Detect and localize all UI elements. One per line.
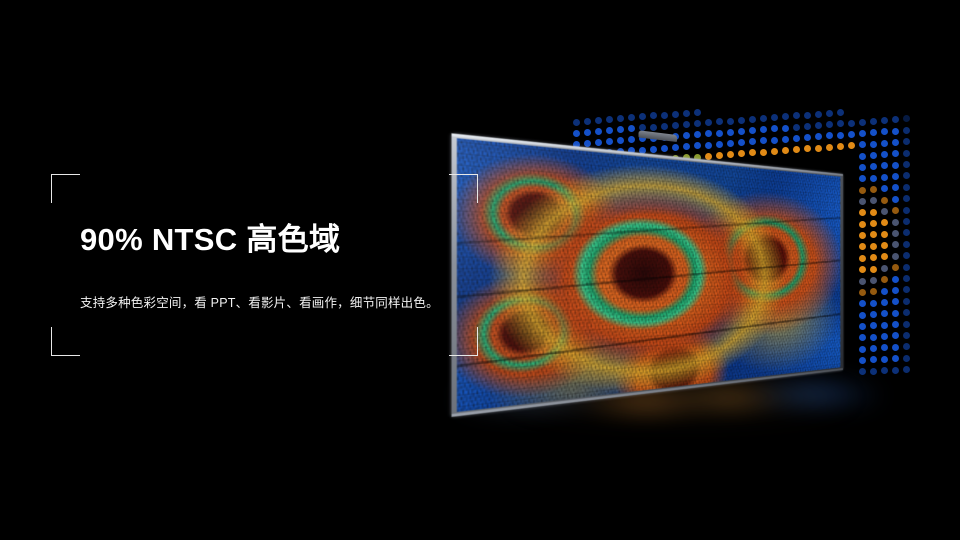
led-dot [903, 355, 910, 362]
led-dot [815, 122, 822, 129]
led-dot [881, 231, 888, 238]
led-dot [617, 126, 624, 133]
led-dot [804, 112, 811, 119]
led-dot [892, 264, 899, 271]
led-dot [881, 162, 888, 169]
led-dot [892, 287, 899, 294]
led-dot [859, 153, 866, 160]
slide-canvas: 90% NTSC 高色域 支持多种色彩空间，看 PPT、看影片、看画作，细节同样… [0, 0, 960, 540]
led-dot [738, 128, 745, 135]
led-dot [881, 208, 888, 215]
led-dot [881, 174, 888, 181]
peacock-feather-image [457, 138, 840, 412]
led-dot [892, 344, 899, 351]
led-dot [881, 367, 888, 374]
led-dot [727, 129, 734, 136]
led-dot [760, 126, 767, 133]
monitor-body [451, 133, 843, 417]
led-dot [881, 356, 888, 363]
led-dot [881, 185, 888, 192]
led-dot [859, 209, 866, 216]
led-dot [892, 219, 899, 226]
led-dot [870, 277, 877, 284]
led-dot [661, 112, 668, 119]
led-dot [881, 265, 888, 272]
led-dot [881, 276, 888, 283]
screen-pixel-grid [457, 138, 840, 412]
led-dot [903, 366, 910, 373]
led-dot [859, 187, 866, 194]
led-dot [826, 121, 833, 128]
led-dot [892, 253, 899, 260]
screen-glare [457, 138, 840, 412]
led-dot [584, 118, 591, 125]
led-dot [870, 209, 877, 216]
led-dot [903, 332, 910, 339]
corner-bracket-top-left [51, 174, 80, 203]
led-dot [738, 117, 745, 124]
led-dot [903, 229, 910, 236]
led-dot [661, 123, 668, 130]
led-dot [859, 232, 866, 239]
led-dot [903, 275, 910, 282]
led-dot [892, 207, 899, 214]
led-dot [859, 141, 866, 148]
feather-quill-lines [457, 138, 840, 412]
led-dot [672, 111, 679, 118]
led-dot [606, 127, 613, 134]
led-dot [870, 163, 877, 170]
led-dot [870, 311, 877, 318]
led-dot [705, 130, 712, 137]
monitor-screen [457, 138, 840, 412]
led-dot [826, 110, 833, 117]
led-dot [837, 132, 844, 139]
led-dot [881, 151, 888, 158]
led-dot [870, 368, 877, 375]
led-dot [837, 120, 844, 127]
led-dot [870, 322, 877, 329]
led-dot [903, 207, 910, 214]
led-dot [881, 299, 888, 306]
led-dot [881, 117, 888, 124]
monitor-bezel [451, 133, 843, 417]
led-dot [881, 322, 888, 329]
corner-bracket-top-right [449, 174, 478, 203]
led-dot [903, 343, 910, 350]
feather-barb-texture-secondary [457, 138, 840, 412]
led-dot [749, 127, 756, 134]
led-dot [870, 118, 877, 125]
led-dot [892, 150, 899, 157]
led-dot [903, 252, 910, 259]
led-dot [892, 321, 899, 328]
led-dot [804, 123, 811, 130]
led-dot [683, 121, 690, 128]
led-dot [727, 118, 734, 125]
led-dot [881, 197, 888, 204]
led-dot [870, 356, 877, 363]
led-dot [903, 218, 910, 225]
led-dot [859, 130, 866, 137]
led-dot [903, 138, 910, 145]
led-dot [892, 241, 899, 248]
led-dot [892, 162, 899, 169]
led-dot [881, 219, 888, 226]
led-dot [859, 243, 866, 250]
led-dot [826, 132, 833, 139]
led-dot [870, 231, 877, 238]
led-dot [793, 112, 800, 119]
led-dot [837, 109, 844, 116]
led-dot [892, 230, 899, 237]
page-title: 90% NTSC 高色域 [80, 222, 480, 259]
led-dot [859, 198, 866, 205]
led-dot [903, 264, 910, 271]
led-dot [881, 344, 888, 351]
led-dot [881, 310, 888, 317]
led-dot [892, 196, 899, 203]
led-dot [892, 355, 899, 362]
led-dot [595, 117, 602, 124]
led-dot [859, 357, 866, 364]
led-dot [859, 289, 866, 296]
led-dot [903, 150, 910, 157]
led-dot [650, 124, 657, 131]
led-dot [859, 368, 866, 375]
led-dot [870, 141, 877, 148]
led-dot [870, 129, 877, 136]
led-dot [859, 175, 866, 182]
led-dot [859, 266, 866, 273]
led-dot [870, 300, 877, 307]
led-dot [881, 242, 888, 249]
led-dot [749, 116, 756, 123]
led-dot [903, 172, 910, 179]
led-dot [639, 113, 646, 120]
led-dot [903, 184, 910, 191]
led-dot [859, 164, 866, 171]
led-dot [870, 288, 877, 295]
led-dot [892, 310, 899, 317]
led-dot [760, 115, 767, 122]
led-dot [881, 128, 888, 135]
led-dot [903, 321, 910, 328]
led-dot [606, 116, 613, 123]
led-dot [771, 125, 778, 132]
led-dot [793, 124, 800, 131]
led-dot [859, 278, 866, 285]
led-dot [903, 286, 910, 293]
led-dot [892, 139, 899, 146]
led-dot [870, 243, 877, 250]
led-dot [903, 241, 910, 248]
led-dot [815, 111, 822, 118]
corner-bracket-bottom-left [51, 327, 80, 356]
led-dot [584, 129, 591, 136]
led-dot [683, 132, 690, 139]
led-dot [859, 312, 866, 319]
led-dot [595, 128, 602, 135]
led-dot [892, 184, 899, 191]
bezel-top-highlight [451, 133, 843, 176]
led-dot [782, 125, 789, 132]
led-dot [870, 220, 877, 227]
copy-block: 90% NTSC 高色域 支持多种色彩空间，看 PPT、看影片、看画作，细节同样… [80, 222, 480, 311]
led-dot [870, 152, 877, 159]
led-dot [881, 253, 888, 260]
led-dot [628, 114, 635, 121]
led-dot [892, 173, 899, 180]
led-dot [881, 333, 888, 340]
led-dot [859, 255, 866, 262]
led-dot [694, 131, 701, 138]
led-dot [694, 109, 701, 116]
led-dot [859, 346, 866, 353]
monitor-display [523, 140, 853, 390]
feather-barb-texture [457, 138, 840, 412]
led-dot [892, 128, 899, 135]
led-dot [881, 288, 888, 295]
led-dot [892, 367, 899, 374]
led-dot [848, 131, 855, 138]
led-dot [771, 114, 778, 121]
led-dot [892, 298, 899, 305]
led-dot [694, 120, 701, 127]
corner-bracket-bottom-right [449, 327, 478, 356]
led-dot [903, 298, 910, 305]
led-dot [859, 323, 866, 330]
led-dot [716, 130, 723, 137]
led-dot [848, 120, 855, 127]
led-dot [892, 116, 899, 123]
monitor-top-mount [638, 130, 677, 142]
led-dot [870, 254, 877, 261]
led-dot [672, 122, 679, 129]
led-dot [870, 334, 877, 341]
led-dot [782, 113, 789, 120]
led-dot [573, 130, 580, 137]
led-dot [870, 266, 877, 273]
led-dot [892, 276, 899, 283]
led-dot [650, 112, 657, 119]
led-dot [628, 125, 635, 132]
led-dot [870, 175, 877, 182]
led-dot [903, 127, 910, 134]
led-dot [859, 334, 866, 341]
led-dot [573, 119, 580, 126]
led-dot [903, 309, 910, 316]
led-dot [859, 300, 866, 307]
led-dot [870, 345, 877, 352]
page-subtitle: 支持多种色彩空间，看 PPT、看影片、看画作，细节同样出色。 [80, 259, 480, 311]
led-dot [859, 119, 866, 126]
led-dot [903, 115, 910, 122]
led-dot [903, 161, 910, 168]
led-dot [892, 332, 899, 339]
led-dot [881, 140, 888, 147]
led-dot [903, 195, 910, 202]
led-dot [617, 115, 624, 122]
led-dot [870, 197, 877, 204]
led-dot [870, 186, 877, 193]
led-dot [683, 110, 690, 117]
led-dot [705, 119, 712, 126]
led-dot [859, 221, 866, 228]
led-dot [716, 118, 723, 125]
